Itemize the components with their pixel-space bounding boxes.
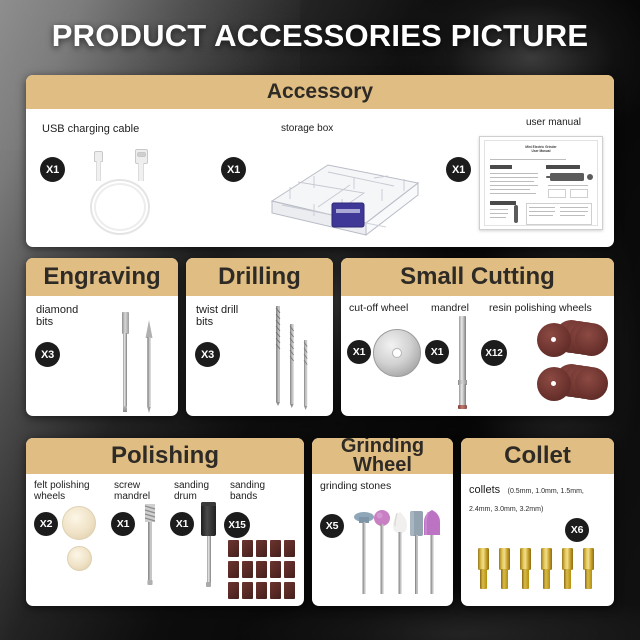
item-label-user-manual: user manual — [526, 117, 581, 128]
mandrel-icon — [453, 314, 473, 412]
section-card-grinding-wheel: Grinding Wheel grinding stones X5 — [312, 438, 453, 606]
qty-badge-grinding-stones: X5 — [320, 514, 344, 538]
qty-badge-user-manual: X1 — [446, 157, 471, 182]
storage-box-icon — [254, 145, 434, 241]
section-header-small-cutting: Small Cutting — [341, 258, 614, 296]
section-header-drilling: Drilling — [186, 258, 333, 296]
section-header-engraving: Engraving — [26, 258, 178, 296]
product-accessories-page: PRODUCT ACCESSORIES PICTURE Accessory US… — [0, 0, 640, 640]
qty-badge-diamond-bits: X3 — [35, 342, 60, 367]
sanding-drum-icon — [198, 502, 220, 590]
item-label-resin-polishing-wheels: resin polishing wheels — [489, 303, 592, 315]
qty-badge-cut-off-wheel: X1 — [347, 340, 371, 364]
item-label-cut-off-wheel: cut-off wheel — [349, 303, 408, 315]
qty-badge-storage-box: X1 — [221, 157, 246, 182]
resin-polishing-wheels-icon — [511, 320, 611, 412]
felt-polishing-wheels-icon — [60, 506, 106, 582]
item-label-twist-drill-bits: twist drill bits — [196, 304, 238, 329]
section-header-grinding-wheel: Grinding Wheel — [312, 438, 453, 474]
usb-cable-icon — [78, 147, 188, 239]
section-card-small-cutting: Small Cutting cut-off wheel X1 mandrel X… — [341, 258, 614, 416]
collets-icon — [475, 548, 603, 598]
qty-badge-twist-drill-bits: X3 — [195, 342, 220, 367]
section-header-accessory: Accessory — [26, 75, 614, 109]
section-card-drilling: Drilling twist drill bits X3 — [186, 258, 333, 416]
grinding-stones-icon — [354, 506, 446, 602]
item-label-usb-charging-cable: USB charging cable — [42, 123, 139, 135]
item-label-sanding-drum: sanding drum — [174, 480, 209, 502]
qty-badge-sanding-drum: X1 — [170, 512, 194, 536]
qty-badge-screw-mandrel: X1 — [111, 512, 135, 536]
item-label-mandrel: mandrel — [431, 303, 469, 315]
user-manual-icon: Mini Electric GrinderUser Manual — [479, 136, 603, 230]
item-label-grinding-stones: grinding stones — [320, 481, 391, 493]
section-card-collet: Collet collets (0.5mm, 1.0mm, 1.5mm, 2.4… — [461, 438, 614, 606]
item-label-diamond-bits: diamond bits — [36, 304, 78, 329]
manual-heading: Mini Electric GrinderUser Manual — [480, 145, 602, 153]
qty-badge-collets: X6 — [565, 518, 589, 542]
sanding-bands-icon — [228, 540, 302, 602]
qty-badge-sanding-bands: X15 — [224, 512, 250, 538]
item-label-storage-box: storage box — [281, 123, 333, 134]
qty-badge-resin-polishing-wheels: X12 — [481, 340, 507, 366]
section-card-engraving: Engraving diamond bits X3 — [26, 258, 178, 416]
screw-mandrel-icon — [140, 502, 160, 588]
item-label-screw-mandrel: screw mandrel — [114, 480, 150, 502]
qty-badge-felt-polishing-wheels: X2 — [34, 512, 58, 536]
item-label-felt-polishing-wheels: felt polishing wheels — [34, 480, 90, 502]
item-label-collets: collets — [469, 484, 500, 496]
cut-off-wheel-icon — [371, 327, 423, 379]
page-title: PRODUCT ACCESSORIES PICTURE — [0, 18, 640, 54]
twist-drill-bits-icon — [264, 300, 328, 414]
section-card-accessory: Accessory USB charging cable X1 storage … — [26, 75, 614, 247]
item-label-sanding-bands: sanding bands — [230, 480, 265, 502]
qty-badge-usb-charging-cable: X1 — [40, 157, 65, 182]
qty-badge-mandrel: X1 — [425, 340, 449, 364]
section-header-collet: Collet — [461, 438, 614, 474]
diamond-bits-icon — [112, 306, 172, 414]
section-card-polishing: Polishing felt polishing wheels X2 screw… — [26, 438, 304, 606]
section-header-polishing: Polishing — [26, 438, 304, 474]
